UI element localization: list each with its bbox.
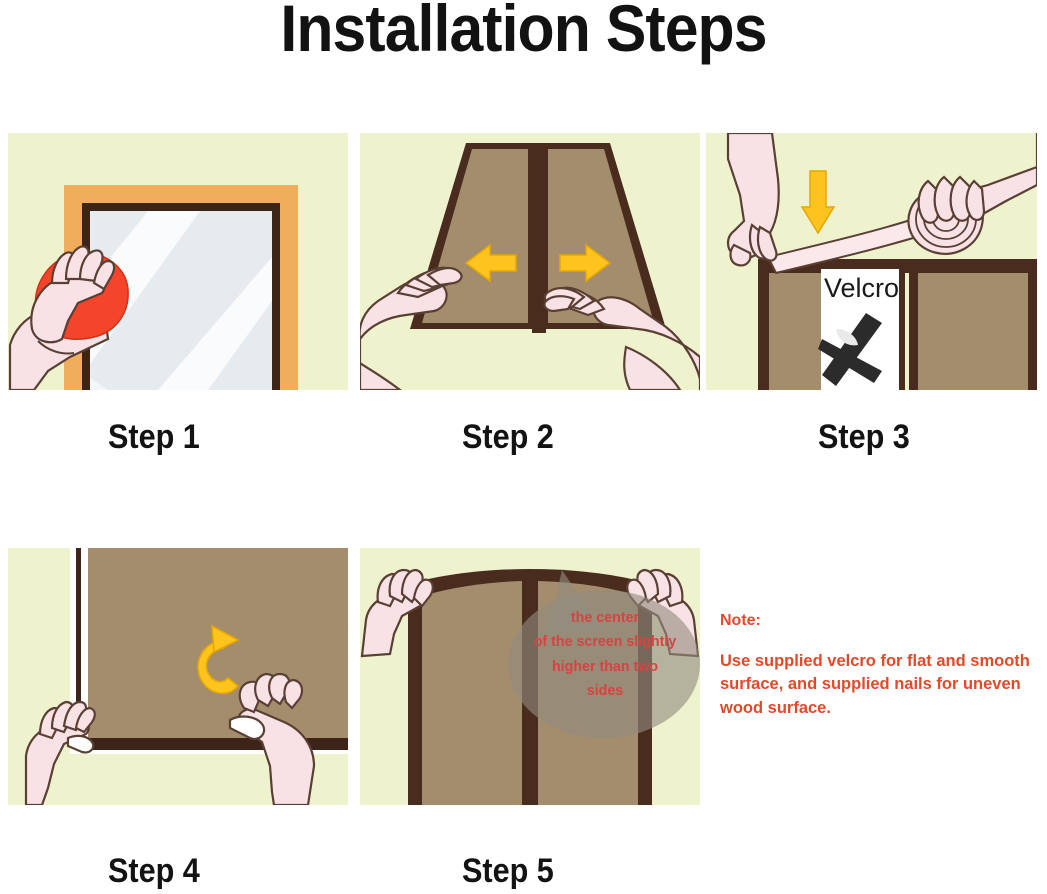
speech-bubble-text: the center of the screen slightly higher… xyxy=(511,606,699,703)
step-1-label: Step 1 xyxy=(108,418,200,457)
right-hand-fingers xyxy=(919,177,984,223)
left-hand xyxy=(26,702,95,805)
door-left-stile xyxy=(758,273,769,390)
step-3-label: Step 3 xyxy=(818,418,910,457)
step-2-label: Step 2 xyxy=(462,418,554,457)
door-right-mesh xyxy=(918,273,1028,390)
screen-left-mesh xyxy=(422,581,522,805)
velcro-card-label: Velcro xyxy=(824,273,899,304)
step-4-artwork xyxy=(8,548,348,805)
note-body: Use supplied velcro for flat and smooth … xyxy=(720,650,1030,720)
left-hand-holding-tape xyxy=(728,133,779,265)
step-4-illustration-panel xyxy=(8,548,348,805)
step-5-illustration-panel: the center of the screen slightly higher… xyxy=(360,548,700,805)
right-hand xyxy=(544,288,700,390)
step-5-label: Step 5 xyxy=(462,852,554,891)
note-block: Note: Use supplied velcro for flat and s… xyxy=(720,612,1030,720)
step-4-label: Step 4 xyxy=(108,852,200,891)
bubble-line-4: sides xyxy=(511,679,699,703)
door-center-stile-b xyxy=(909,273,918,390)
bubble-line-1: the center xyxy=(511,606,699,630)
step-1-artwork xyxy=(8,133,348,390)
step-3-artwork xyxy=(706,133,1037,390)
page-title: Installation Steps xyxy=(42,0,1005,63)
door-right-stile xyxy=(1028,273,1037,390)
installation-steps-page: Installation Steps xyxy=(0,0,1047,894)
step-1-illustration-panel xyxy=(8,133,348,390)
step-2-artwork xyxy=(360,133,700,390)
note-heading: Note: xyxy=(720,612,1030,630)
bubble-line-3: higher than two xyxy=(511,655,699,679)
bubble-line-2: of the screen slightly xyxy=(511,630,699,654)
step-2-illustration-panel xyxy=(360,133,700,390)
arrow-down-icon xyxy=(802,171,834,233)
step-3-illustration-panel: Velcro xyxy=(706,133,1037,390)
